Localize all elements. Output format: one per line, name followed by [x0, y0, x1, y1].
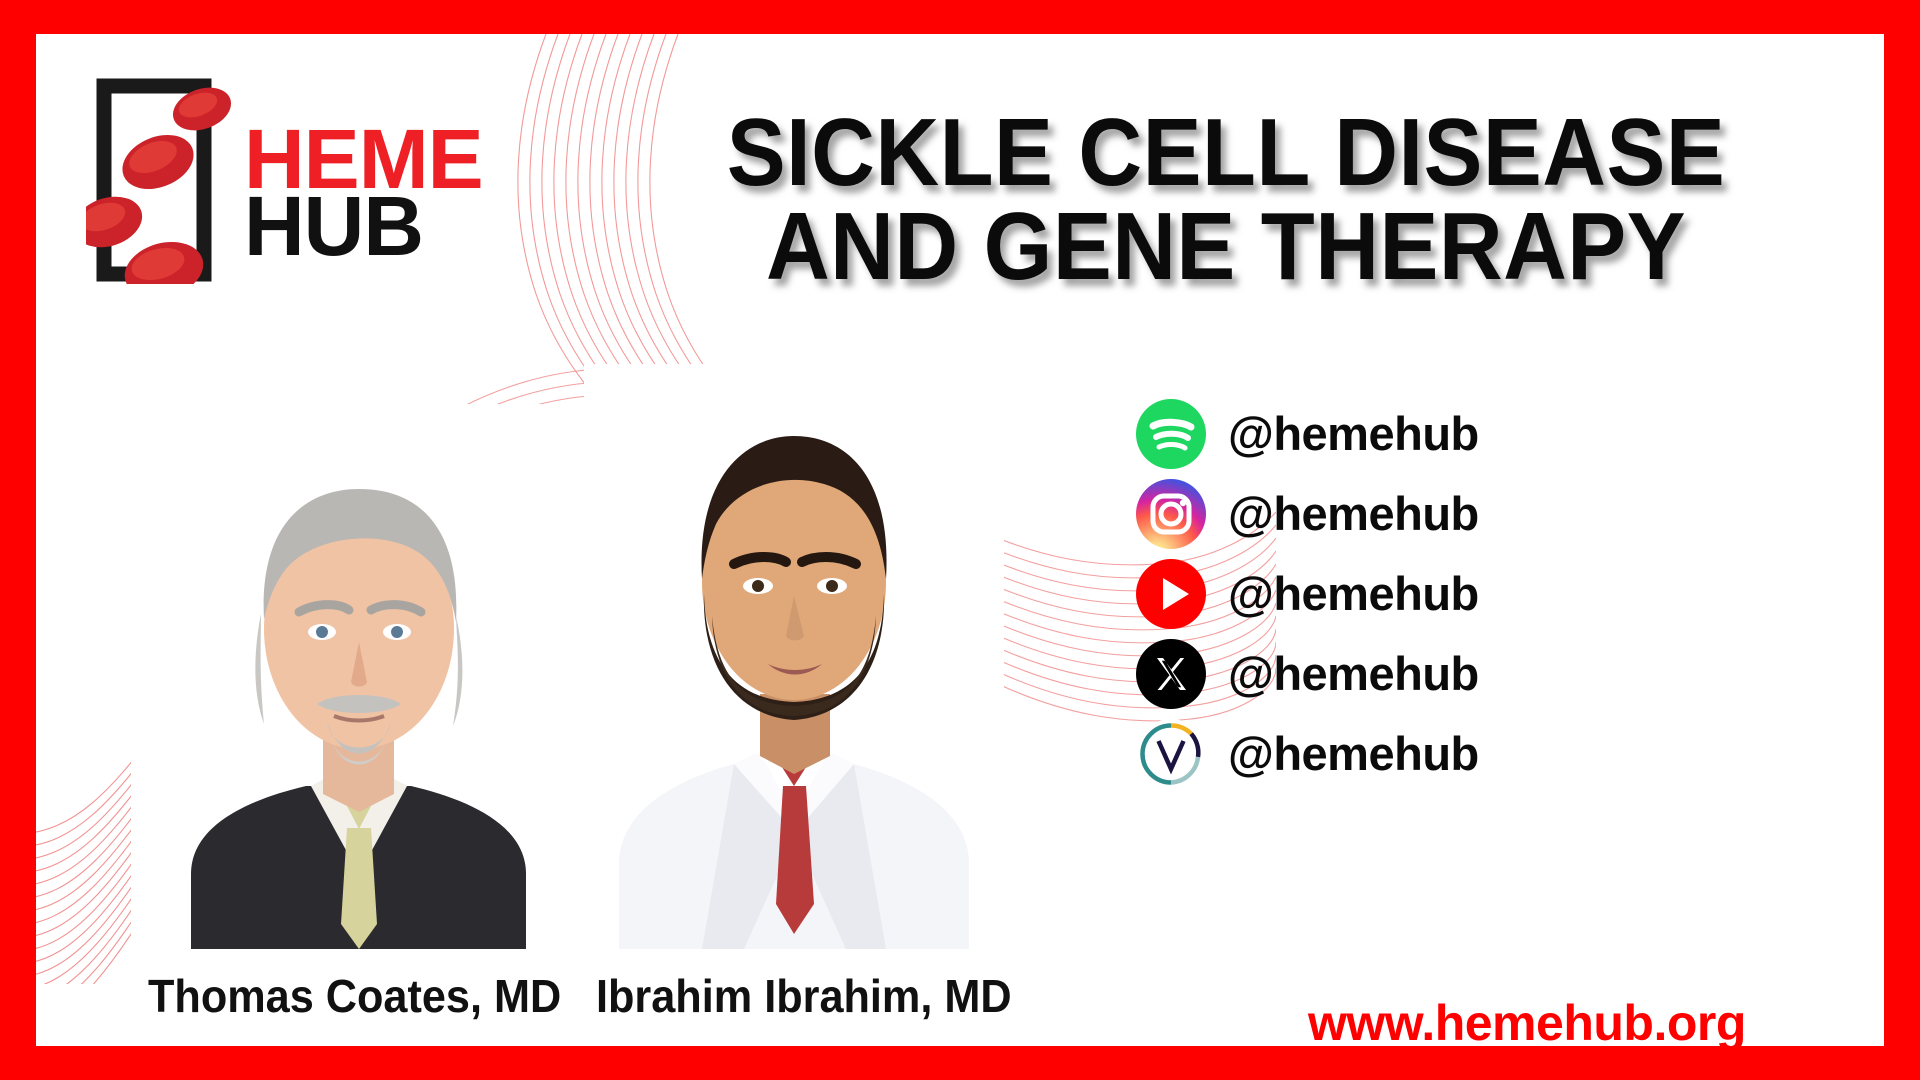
speaker-name-1: Thomas Coates, MD — [148, 969, 561, 1023]
social-handle-x: @hemehub — [1228, 646, 1479, 701]
social-handle-youtube: @hemehub — [1228, 566, 1479, 621]
youtube-icon[interactable] — [1136, 559, 1206, 629]
social-row-instagram[interactable]: @hemehub — [1136, 474, 1856, 553]
page-title: SICKLE CELL DISEASE AND GENE THERAPY — [596, 106, 1856, 294]
spotify-icon[interactable] — [1136, 399, 1206, 469]
portrait-thomas-coates — [131, 404, 586, 949]
social-row-x[interactable]: @hemehub — [1136, 634, 1856, 713]
social-links-list: @hemehub @hemehub @hem — [1136, 394, 1856, 794]
title-line-1: SICKLE CELL DISEASE — [646, 106, 1805, 200]
logo-wordmark: HEME HUB — [244, 126, 483, 260]
heme-hub-logo: HEME HUB — [86, 74, 426, 304]
blood-cell-frame-icon — [86, 74, 246, 284]
x-icon[interactable] — [1136, 639, 1206, 709]
poster-canvas: HEME HUB SICKLE CELL DISEASE AND GENE TH… — [36, 34, 1884, 1046]
social-handle-vimeo: @hemehub — [1228, 726, 1479, 781]
website-url[interactable]: www.hemehub.org — [1308, 994, 1746, 1046]
portrait-ibrahim-ibrahim — [584, 364, 1004, 949]
social-row-youtube[interactable]: @hemehub — [1136, 554, 1856, 633]
vimeo-ring-icon[interactable] — [1136, 719, 1206, 789]
social-handle-instagram: @hemehub — [1228, 486, 1479, 541]
speaker-name-2: Ibrahim Ibrahim, MD — [596, 969, 1012, 1023]
title-line-2: AND GENE THERAPY — [646, 200, 1805, 294]
poster-root: HEME HUB SICKLE CELL DISEASE AND GENE TH… — [0, 0, 1920, 1080]
social-handle-spotify: @hemehub — [1228, 406, 1479, 461]
social-row-vimeo[interactable]: @hemehub — [1136, 714, 1856, 793]
social-row-spotify[interactable]: @hemehub — [1136, 394, 1856, 473]
instagram-icon[interactable] — [1136, 479, 1206, 549]
